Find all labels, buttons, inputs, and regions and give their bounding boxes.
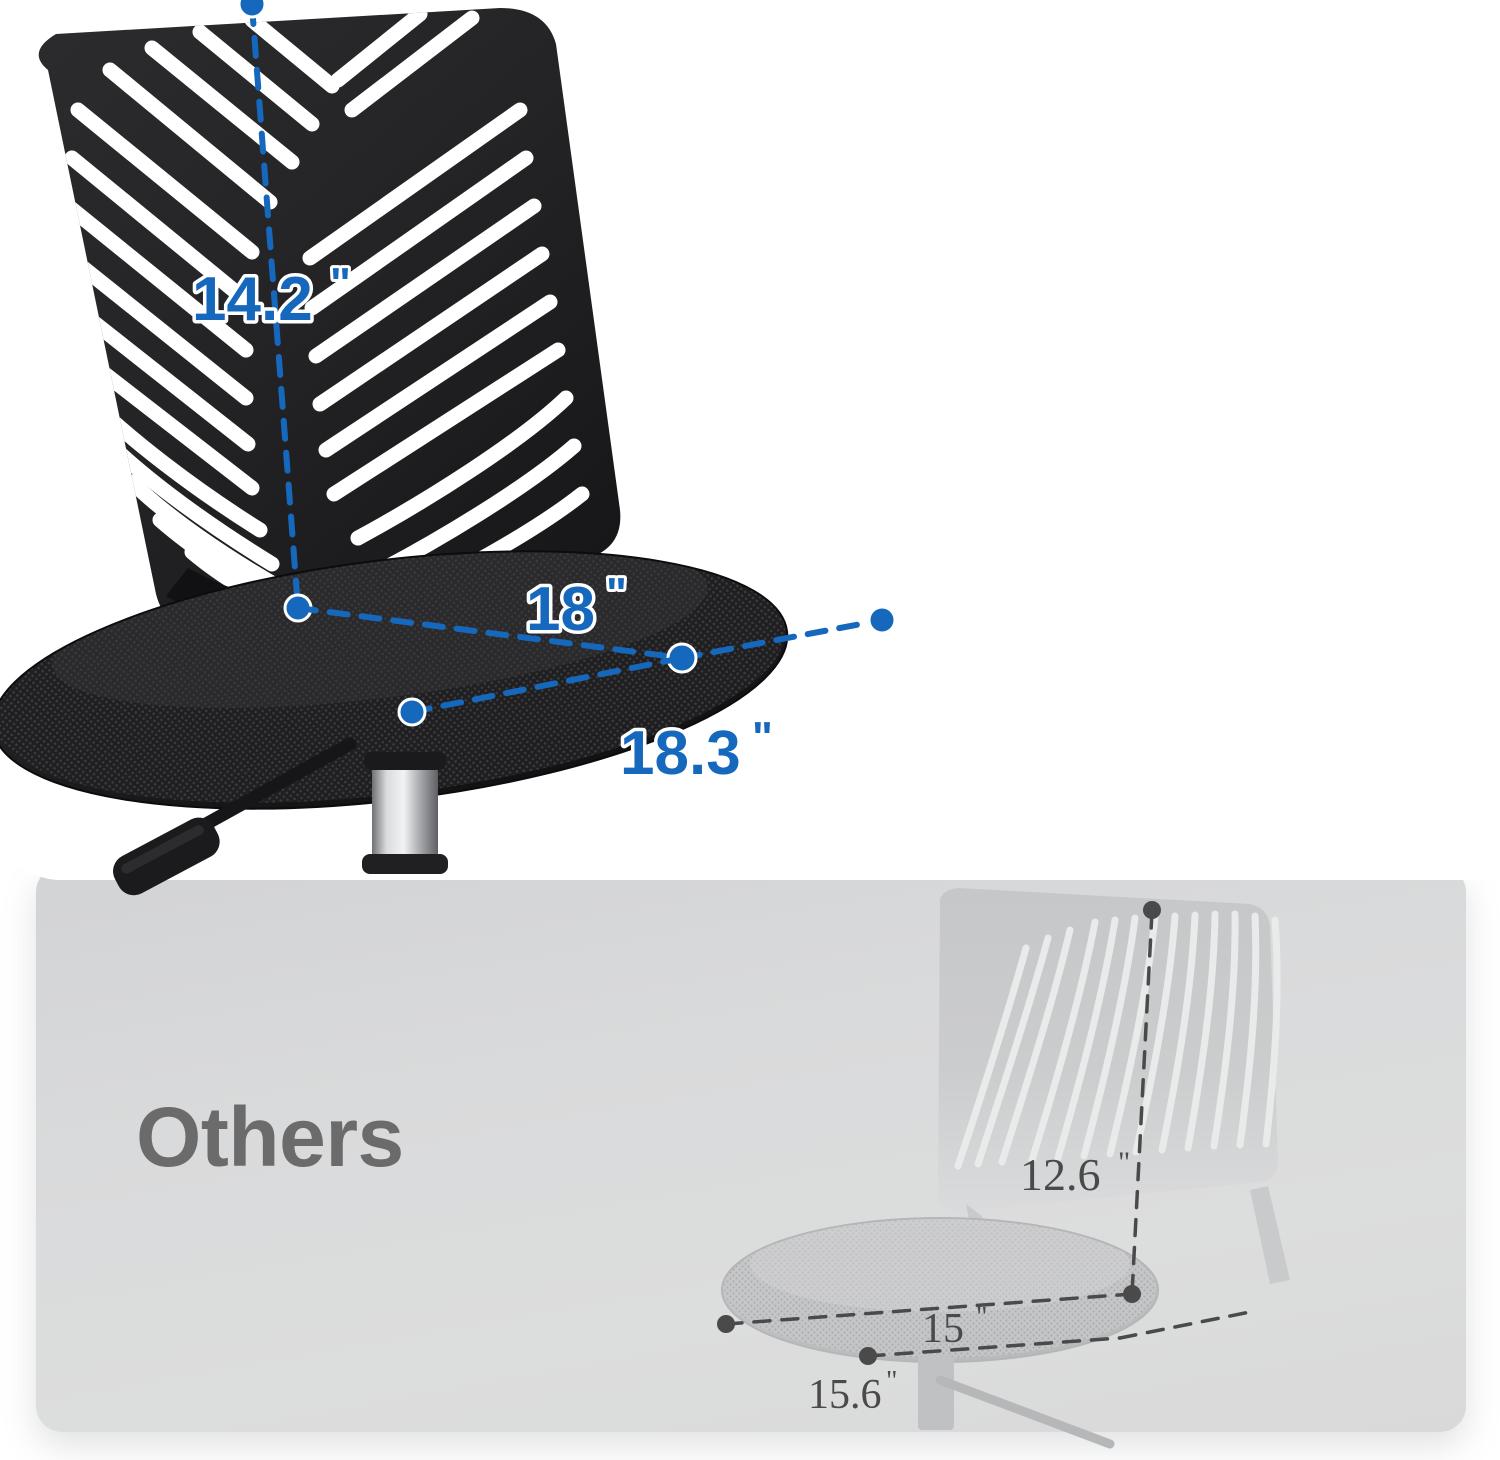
ours-cylinder-collar: [364, 752, 446, 770]
ours-cylinder-foot: [362, 854, 448, 874]
ours-dim-seat-depth: 18: [526, 575, 595, 644]
ours-dim-seat-depth-unit: ": [606, 569, 627, 618]
infographic-root: 12.6 " 15 " 15.6 " Others: [0, 0, 1500, 1456]
others-title: Others: [136, 1095, 404, 1179]
ours-chair-illustration: 14.2 " 18 " 18.3 ": [0, 0, 950, 890]
others-back-post-right: [1250, 1186, 1290, 1284]
ours-tilt-lever-handle: [107, 812, 226, 902]
ours-dim-back-height: 14.2: [192, 265, 313, 334]
others-dim-back-height: 12.6: [1020, 1149, 1101, 1200]
ours-dim-seat-width-unit: ": [752, 713, 773, 762]
others-dim-seat-width: 15.6: [808, 1372, 882, 1418]
others-dim-seat-width-unit: ": [886, 1366, 897, 1397]
ours-dim-back-height-unit: ": [330, 259, 351, 308]
ours-dim-seat-width: 18.3: [620, 719, 741, 788]
others-dim-seat-depth: 15: [922, 1306, 964, 1352]
others-dim-back-height-unit: ": [1118, 1146, 1130, 1179]
others-dim-seat-depth-unit: ": [976, 1302, 987, 1333]
others-gas-cylinder: [918, 1356, 954, 1430]
others-chair-illustration: 12.6 " 15 " 15.6 ": [690, 860, 1500, 1460]
others-base-arm: [940, 1380, 1110, 1444]
